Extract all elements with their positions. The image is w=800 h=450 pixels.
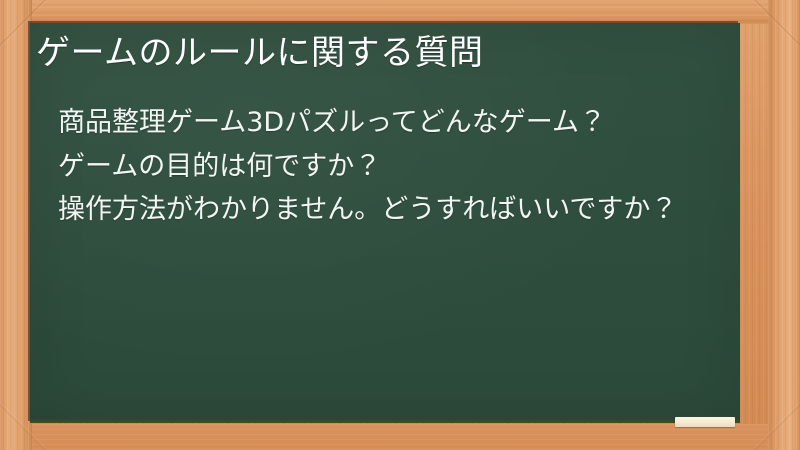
chalk-stick-icon [675, 417, 735, 427]
question-list: 商品整理ゲーム3Dパズルってどんなゲーム？ ゲームの目的は何ですか？ 操作方法が… [36, 101, 736, 232]
slide-canvas: ゲームのルールに関する質問 商品整理ゲーム3Dパズルってどんなゲーム？ ゲームの… [0, 0, 800, 450]
page-title: ゲームのルールに関する質問 [36, 33, 726, 74]
frame-rail-bottom [0, 424, 800, 450]
list-item: 商品整理ゲーム3Dパズルってどんなゲーム？ [36, 101, 736, 145]
frame-stile-left [0, 0, 32, 450]
blackboard: ゲームのルールに関する質問 商品整理ゲーム3Dパズルってどんなゲーム？ ゲームの… [30, 23, 740, 423]
frame-stile-right [768, 0, 800, 450]
blackboard-bottom-edge [30, 419, 740, 423]
list-item: ゲームの目的は何ですか？ [36, 145, 736, 189]
list-item: 操作方法がわかりません。どうすればいいですか？ [36, 188, 736, 232]
frame-rail-top [0, 0, 800, 24]
